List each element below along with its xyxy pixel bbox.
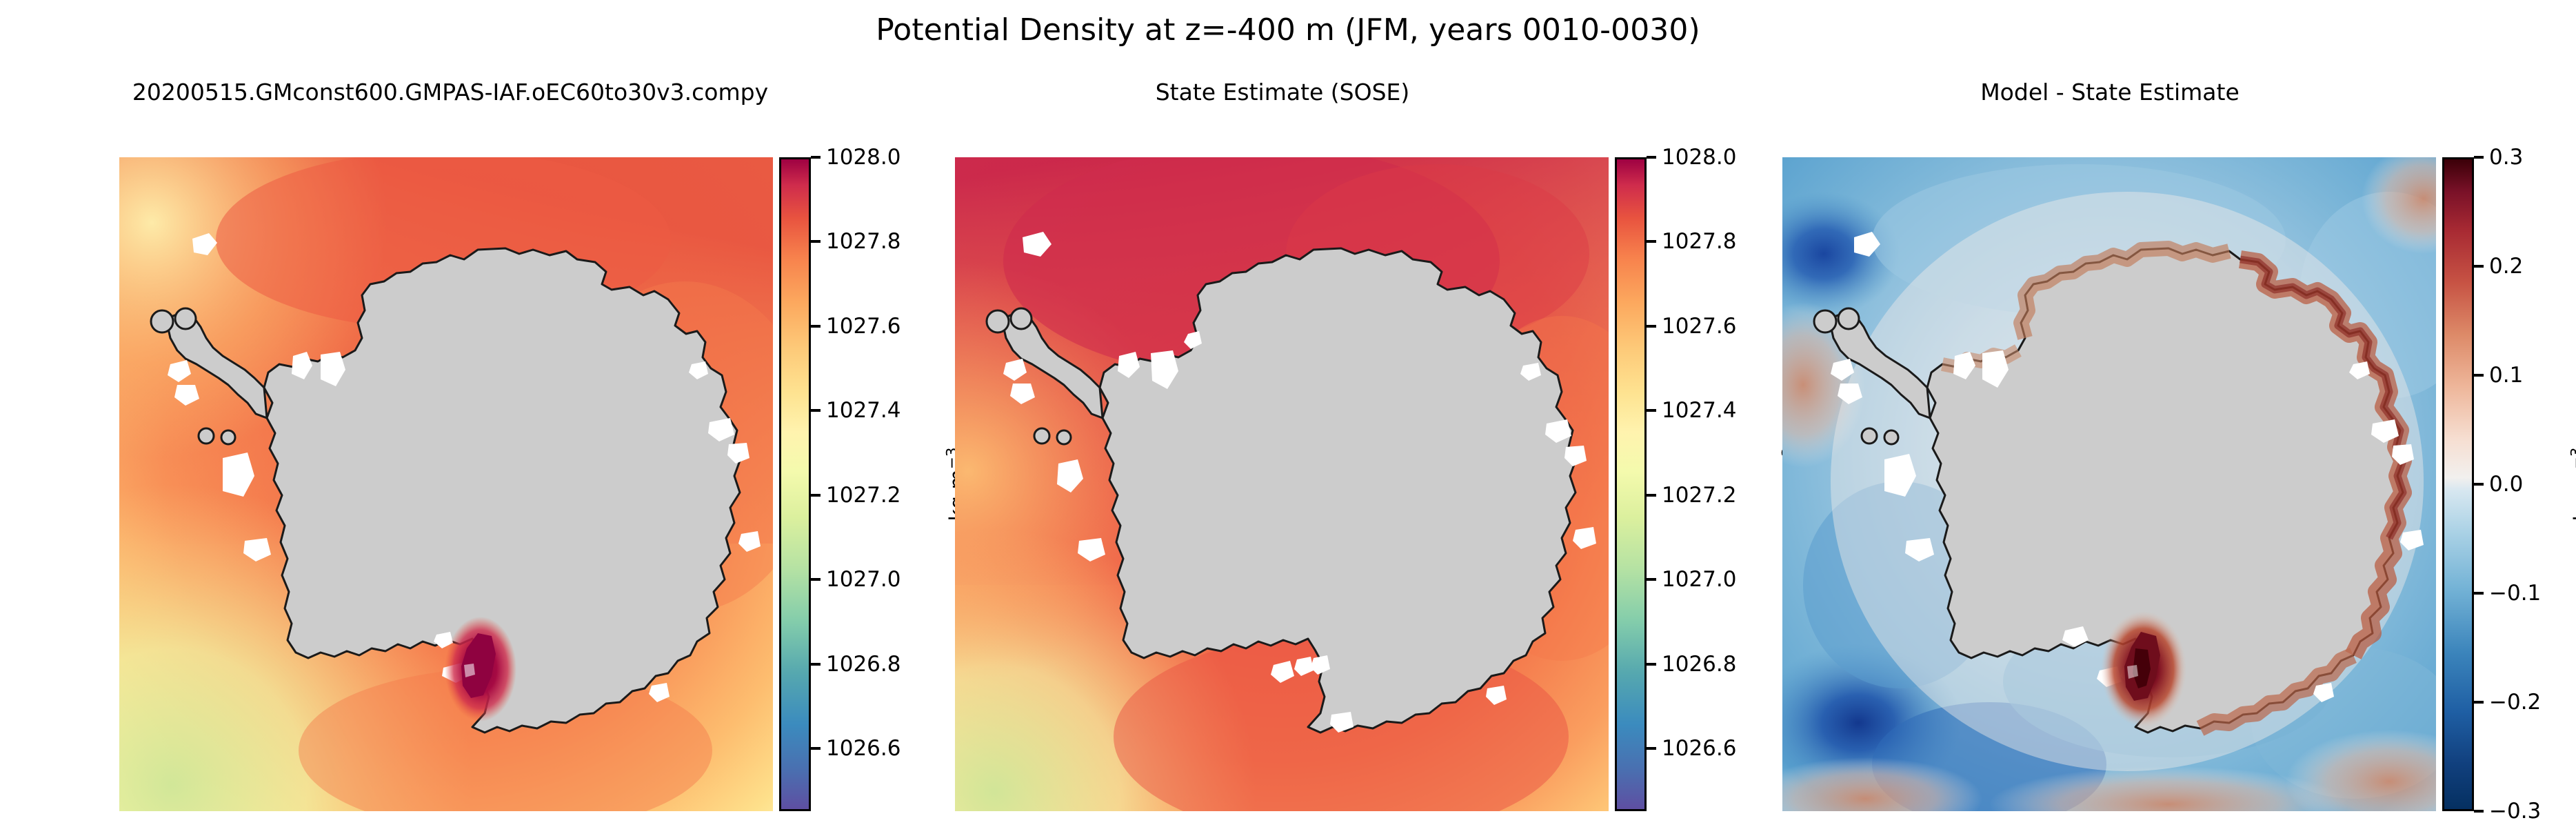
tick-label: 1026.6 <box>1662 735 1736 762</box>
panel-group-difference: Model - State Estimate <box>1782 0 2564 836</box>
map-field-sose <box>955 157 1609 811</box>
tick-mark <box>1647 747 1656 750</box>
map-axes-difference[interactable] <box>1782 157 2436 811</box>
tick-label: −0.2 <box>2489 688 2541 716</box>
tick-label: 1028.0 <box>1662 143 1736 171</box>
colorbar-gradient-difference <box>2442 157 2474 811</box>
tick-label: 0.3 <box>2489 143 2523 171</box>
panel-title-difference: Model - State Estimate <box>1665 77 2555 108</box>
tick-mark <box>1647 409 1656 412</box>
tick-label: 1027.6 <box>826 312 900 340</box>
tick-mark <box>1647 156 1656 159</box>
tick-mark <box>2474 592 2484 595</box>
tick-label: 1026.8 <box>1662 650 1736 678</box>
tick-label: 1028.0 <box>826 143 900 171</box>
tick-mark <box>2474 265 2484 268</box>
tick-label: −0.3 <box>2489 797 2541 825</box>
tick-label: 1027.8 <box>826 228 900 255</box>
map-field-difference <box>1782 157 2436 811</box>
tick-label: 1027.2 <box>826 481 900 509</box>
tick-label: 1027.4 <box>1662 397 1736 424</box>
tick-mark <box>2474 374 2484 377</box>
panel-title-sose: State Estimate (SOSE) <box>838 77 1727 108</box>
colorbar-gradient-model <box>779 157 811 811</box>
tick-label: 1027.6 <box>1662 312 1736 340</box>
map-field-model <box>119 157 773 811</box>
tick-label: 1027.2 <box>1662 481 1736 509</box>
colorbar-axis-label-difference: kg m−3 <box>2571 447 2576 521</box>
tick-mark <box>811 578 821 581</box>
tick-mark <box>811 240 821 243</box>
panel-group-model: 20200515.GMconst600.GMPAS-IAF.oEC60to30v… <box>119 0 900 836</box>
panel-group-sose: State Estimate (SOSE) <box>955 0 1736 836</box>
map-axes-model[interactable] <box>119 157 773 811</box>
tick-mark <box>811 494 821 497</box>
panel-title-model: 20200515.GMconst600.GMPAS-IAF.oEC60to30v… <box>2 77 898 108</box>
tick-label: 0.2 <box>2489 252 2523 280</box>
tick-mark <box>811 156 821 159</box>
tick-label: 1026.8 <box>826 650 900 678</box>
colorbar-gradient-sose <box>1615 157 1647 811</box>
tick-label: 1027.4 <box>826 397 900 424</box>
tick-mark <box>1647 240 1656 243</box>
tick-mark <box>811 747 821 750</box>
tick-mark <box>1647 494 1656 497</box>
tick-label: 0.1 <box>2489 361 2523 389</box>
tick-mark <box>2474 810 2484 813</box>
colorbar-unit-base: kg m <box>2570 469 2576 521</box>
tick-label: 1026.6 <box>826 735 900 762</box>
tick-label: −0.1 <box>2489 579 2541 607</box>
tick-mark <box>1647 325 1656 328</box>
tick-label: 1027.8 <box>1662 228 1736 255</box>
tick-mark <box>811 663 821 666</box>
tick-mark <box>811 409 821 412</box>
tick-mark <box>1647 578 1656 581</box>
tick-mark <box>2474 701 2484 704</box>
tick-label: 1027.0 <box>826 566 900 593</box>
figure-canvas: Potential Density at z=-400 m (JFM, year… <box>0 0 2576 836</box>
colorbar-ticks-difference: 0.3 0.2 0.1 0.0 −0.1 −0.2 −0.3 <box>2474 157 2576 811</box>
tick-mark <box>811 325 821 328</box>
tick-mark <box>1647 663 1656 666</box>
tick-mark <box>2474 156 2484 159</box>
tick-label: 0.0 <box>2489 470 2523 498</box>
tick-label: 1027.0 <box>1662 566 1736 593</box>
tick-mark <box>2474 483 2484 486</box>
map-axes-sose[interactable] <box>955 157 1609 811</box>
colorbar-unit-exponent: −3 <box>2568 447 2576 469</box>
